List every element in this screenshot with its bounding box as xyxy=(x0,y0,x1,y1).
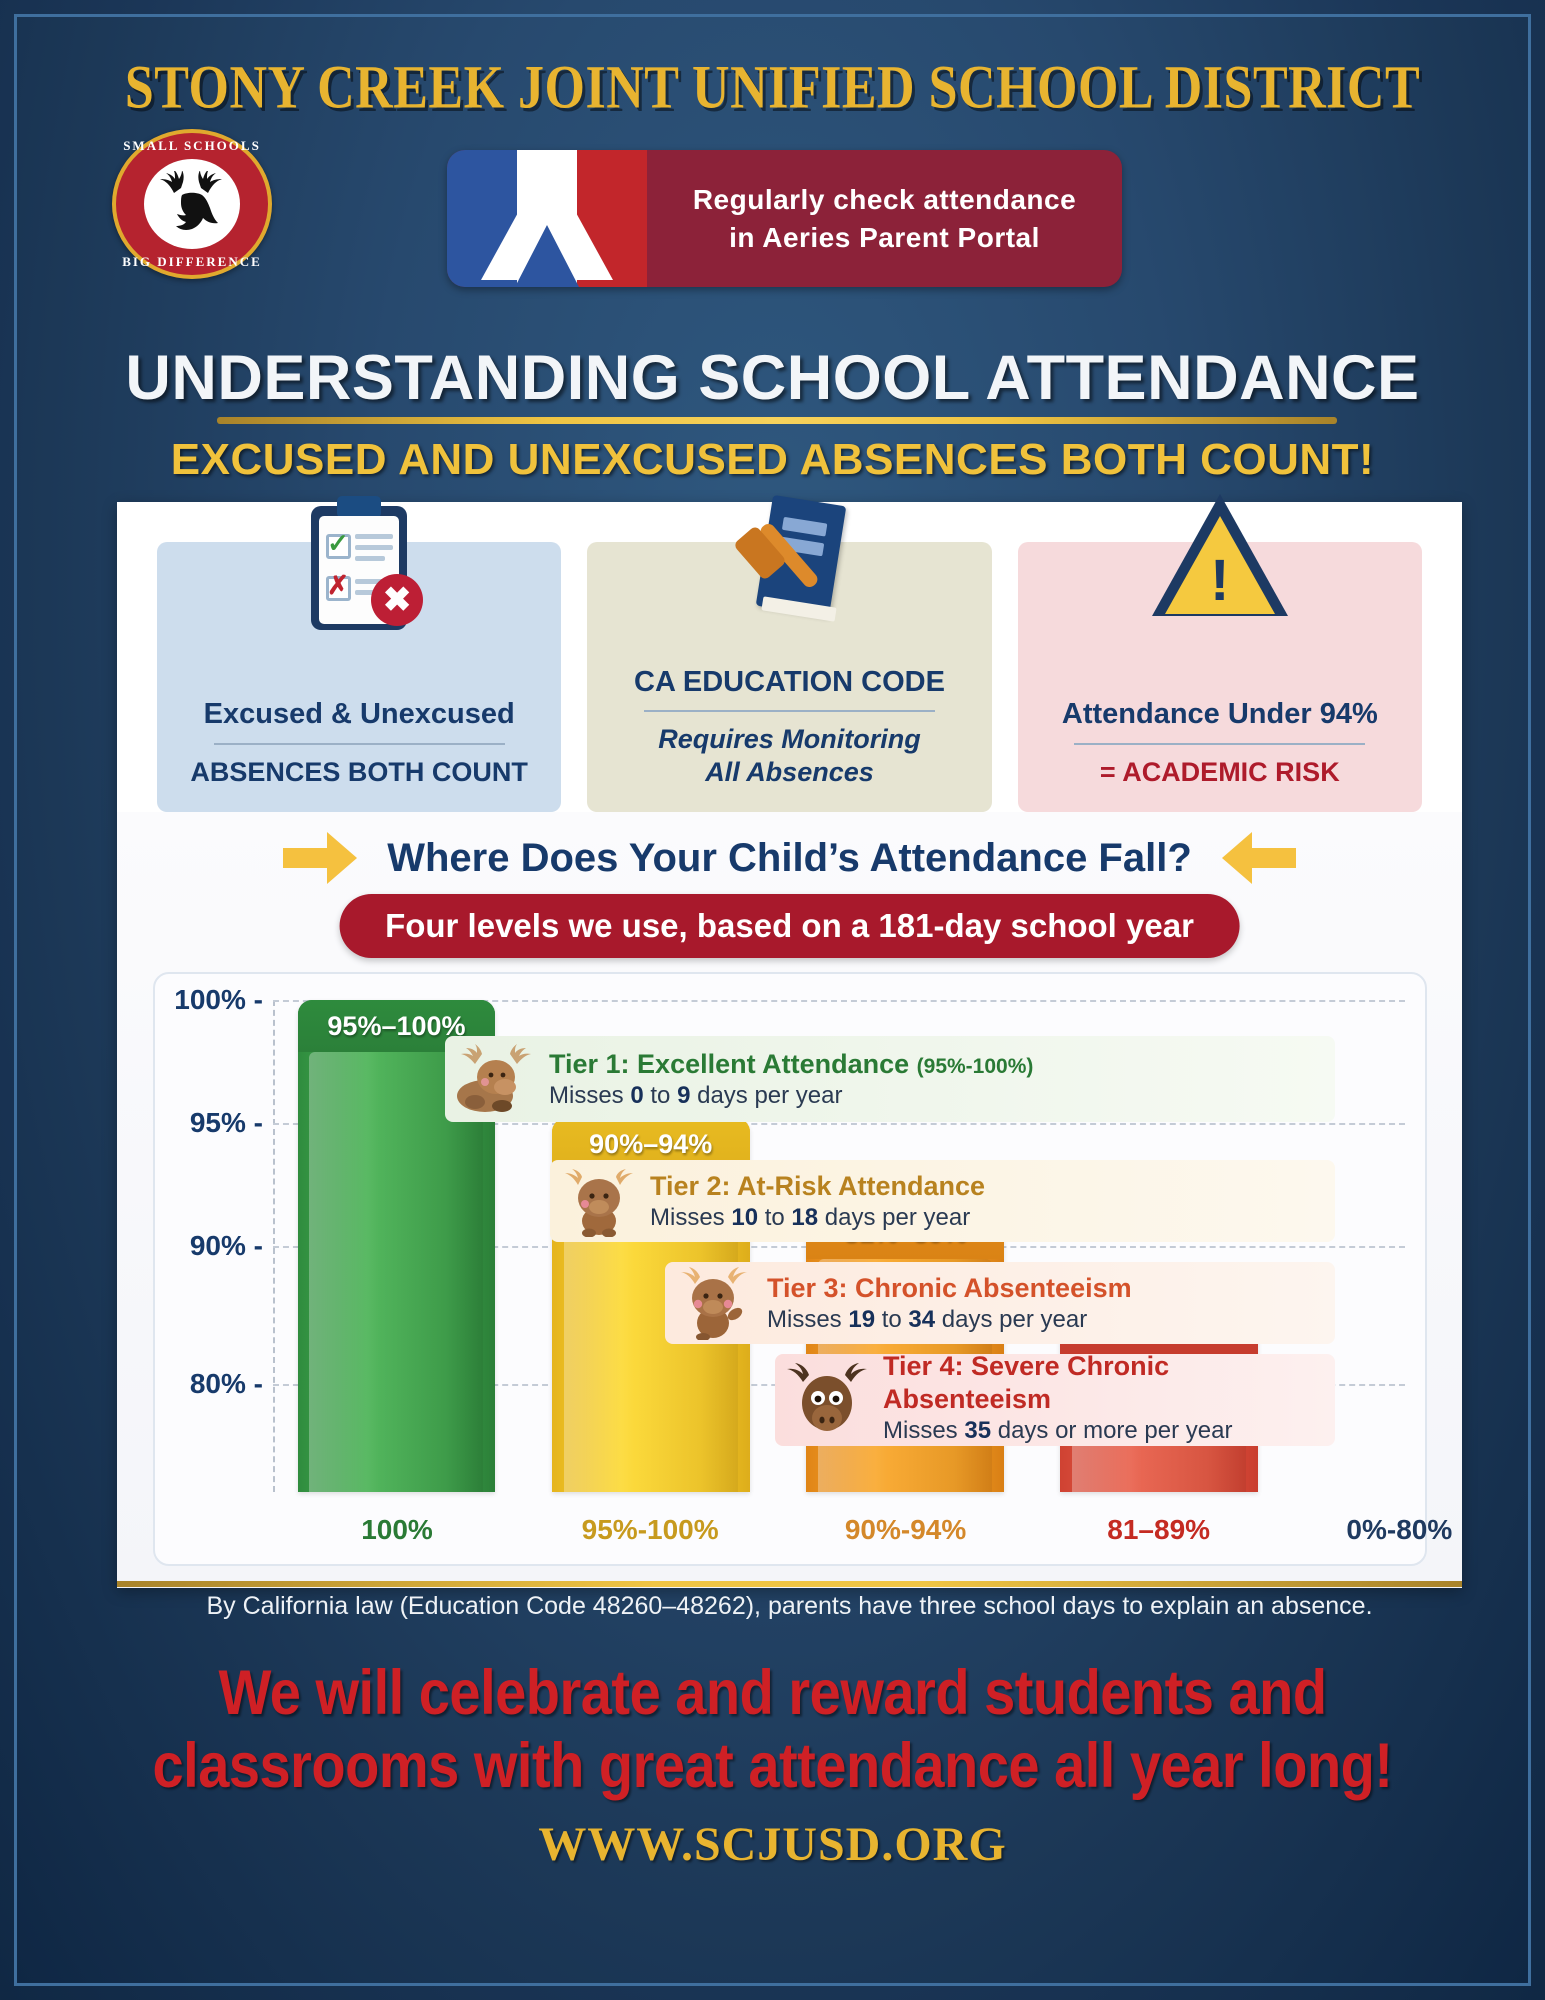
tier-3-text: Tier 3: Chronic Absenteeism Misses 19 to… xyxy=(767,1272,1132,1334)
moose-waving-icon xyxy=(675,1266,755,1340)
moose-face-icon xyxy=(785,1358,871,1438)
tier-callout-2: Tier 2: At-Risk Attendance Misses 10 to … xyxy=(550,1160,1335,1242)
aeries-line-1: Regularly check attendance xyxy=(693,184,1076,215)
chart-plot-card: 100% - 95% - 90% - 80% - 95%–100% xyxy=(153,972,1427,1566)
logo-core xyxy=(144,159,240,249)
card-3-divider xyxy=(1074,743,1365,745)
aeries-line-2: in Aeries Parent Portal xyxy=(661,219,1108,257)
card-1-divider xyxy=(214,743,505,745)
clipboard-check-x-icon: ✓ ✗ ✖ xyxy=(284,494,434,644)
tier-4-detail: Misses 35 days or more per year xyxy=(883,1417,1232,1444)
aeries-banner[interactable]: Regularly check attendance in Aeries Par… xyxy=(447,150,1122,287)
tier-2-heading: Tier 2: At-Risk Attendance xyxy=(650,1171,985,1201)
tier-4-text: Tier 4: Severe ChronicAbsenteeism Misses… xyxy=(883,1350,1232,1445)
chart-question-row: Where Does Your Child’s Attendance Fall? xyxy=(117,832,1462,884)
card-2-subtitle-line1: Requires Monitoring xyxy=(658,724,921,754)
card-3-subtitle: = ACADEMIC RISK xyxy=(1100,756,1340,788)
info-card-absences: ✓ ✗ ✖ Excused & Unexcused ABSENCES BOTH … xyxy=(157,542,561,812)
tier-3-heading: Tier 3: Chronic Absenteeism xyxy=(767,1273,1132,1303)
content-panel: ✓ ✗ ✖ Excused & Unexcused ABSENCES BOTH … xyxy=(117,502,1462,1588)
x-tick-0: 100% xyxy=(361,1514,433,1546)
tier-1-range: (95%-100%) xyxy=(917,1055,1034,1078)
poster-root: STONY CREEK JOINT UNIFIED SCHOOL DISTRIC… xyxy=(0,0,1545,2000)
y-tick-80: 80% - xyxy=(190,1368,263,1400)
x-tick-4: 0%-80% xyxy=(1346,1514,1452,1546)
moose-resting-icon xyxy=(455,1044,537,1114)
card-2-title: CA EDUCATION CODE xyxy=(634,666,945,699)
warning-triangle-icon: ! xyxy=(1145,494,1295,644)
sub-heading: EXCUSED AND UNEXCUSED ABSENCES BOTH COUN… xyxy=(17,435,1528,485)
four-levels-pill: Four levels we use, based on a 181-day s… xyxy=(339,894,1240,958)
tier-2-text: Tier 2: At-Risk Attendance Misses 10 to … xyxy=(650,1170,985,1232)
moose-sitting-icon xyxy=(560,1165,638,1237)
card-2-divider xyxy=(644,710,935,712)
card-1-subtitle: ABSENCES BOTH COUNT xyxy=(190,756,528,788)
gold-divider xyxy=(217,417,1337,424)
tier-callout-1: Tier 1: Excellent Attendance (95%-100%) … xyxy=(445,1036,1335,1122)
celebrate-line-2: classrooms with great attendance all yea… xyxy=(153,1730,1393,1801)
logo-arc-bottom-text: BIG DIFFERENCE xyxy=(112,254,272,270)
chart-section: Where Does Your Child’s Attendance Fall?… xyxy=(117,812,1462,1588)
aeries-banner-text: Regularly check attendance in Aeries Par… xyxy=(647,181,1122,257)
law-note: By California law (Education Code 48260–… xyxy=(117,1592,1462,1621)
y-tick-90: 90% - xyxy=(190,1230,263,1262)
tier-callout-3: Tier 3: Chronic Absenteeism Misses 19 to… xyxy=(665,1262,1335,1344)
card-2-subtitle: Requires Monitoring All Absences xyxy=(658,723,921,788)
x-tick-3: 81–89% xyxy=(1107,1514,1210,1546)
info-card-academic-risk: ! Attendance Under 94% = ACADEMIC RISK xyxy=(1018,542,1422,812)
card-3-title-prefix: Attendance Under xyxy=(1062,698,1320,730)
tier-3-detail: Misses 19 to 34 days per year xyxy=(767,1306,1087,1333)
district-logo: SMALL SCHOOLS BIG DIFFERENCE xyxy=(112,129,272,279)
card-1-title: Excused & Unexcused xyxy=(204,698,515,731)
arrow-right-icon xyxy=(283,832,357,884)
tier-4-heading: Tier 4: Severe ChronicAbsenteeism xyxy=(883,1351,1169,1414)
website-url[interactable]: WWW.SCJUSD.ORG xyxy=(17,1817,1528,1872)
tier-1-text: Tier 1: Excellent Attendance (95%-100%) … xyxy=(549,1048,1033,1110)
card-2-subtitle-line2: All Absences xyxy=(705,757,874,787)
main-heading: UNDERSTANDING SCHOOL ATTENDANCE xyxy=(17,342,1528,414)
info-card-education-code: CA EDUCATION CODE Requires Monitoring Al… xyxy=(587,542,991,812)
bar-tier-3[interactable]: 81%–89% xyxy=(806,1207,1004,1492)
logo-arc-top-text: SMALL SCHOOLS xyxy=(112,138,272,154)
celebrate-line-1: We will celebrate and reward students an… xyxy=(218,1657,1326,1728)
tier-2-detail: Misses 10 to 18 days per year xyxy=(650,1204,970,1231)
x-tick-2: 90%-94% xyxy=(845,1514,966,1546)
aeries-logo-icon xyxy=(447,150,647,287)
tier-callout-4: Tier 4: Severe ChronicAbsenteeism Misses… xyxy=(775,1354,1335,1446)
y-tick-100: 100% - xyxy=(174,984,263,1016)
chart-question: Where Does Your Child’s Attendance Fall? xyxy=(387,836,1192,881)
chart-x-axis: 100% 95%-100% 90%-94% 81–89% 0%-80% xyxy=(275,1502,1405,1546)
district-title: STONY CREEK JOINT UNIFIED SCHOOL DISTRIC… xyxy=(17,53,1528,123)
card-3-title-value: 94% xyxy=(1320,698,1378,730)
tier-1-detail: Misses 0 to 9 days per year xyxy=(549,1082,843,1109)
chart-y-axis: 100% - 95% - 90% - 80% - xyxy=(155,1000,273,1492)
gavel-lawbook-icon xyxy=(714,494,864,644)
footer-gold-rule xyxy=(117,1581,1462,1587)
celebrate-message: We will celebrate and reward students an… xyxy=(17,1657,1528,1802)
arrow-left-icon xyxy=(1222,832,1296,884)
poster-inner-frame: STONY CREEK JOINT UNIFIED SCHOOL DISTRIC… xyxy=(14,14,1531,1986)
card-3-title: Attendance Under 94% xyxy=(1062,698,1378,731)
x-tick-1: 95%-100% xyxy=(582,1514,719,1546)
elk-head-icon xyxy=(152,171,232,238)
info-card-row: ✓ ✗ ✖ Excused & Unexcused ABSENCES BOTH … xyxy=(157,542,1422,812)
tier-1-heading: Tier 1: Excellent Attendance (95%-100%) xyxy=(549,1049,1033,1079)
y-tick-95: 95% - xyxy=(190,1107,263,1139)
